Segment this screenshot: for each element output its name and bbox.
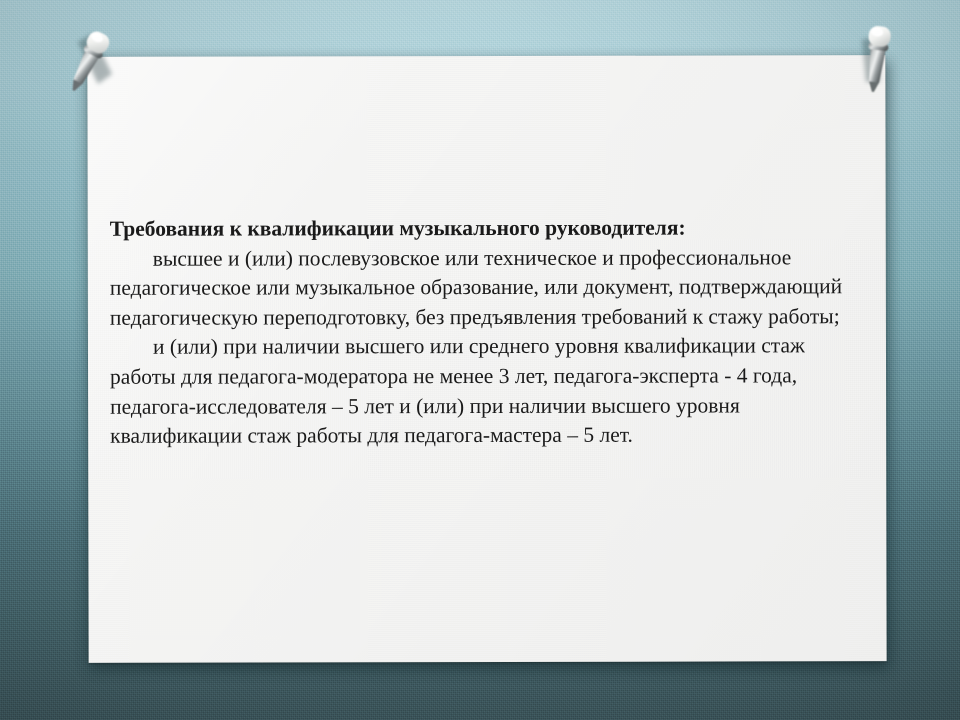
requirements-paragraph-1: высшее и (или) послевузовское или технич… [110,243,872,333]
slide-text-block: Требования к квалификации музыкального р… [110,213,872,451]
requirements-heading: Требования к квалификации музыкального р… [110,213,872,244]
slide-canvas: Требования к квалификации музыкального р… [0,0,960,720]
paper-sheet: Требования к квалификации музыкального р… [87,55,886,663]
requirements-paragraph-2: и (или) при наличии высшего или среднего… [110,332,872,452]
